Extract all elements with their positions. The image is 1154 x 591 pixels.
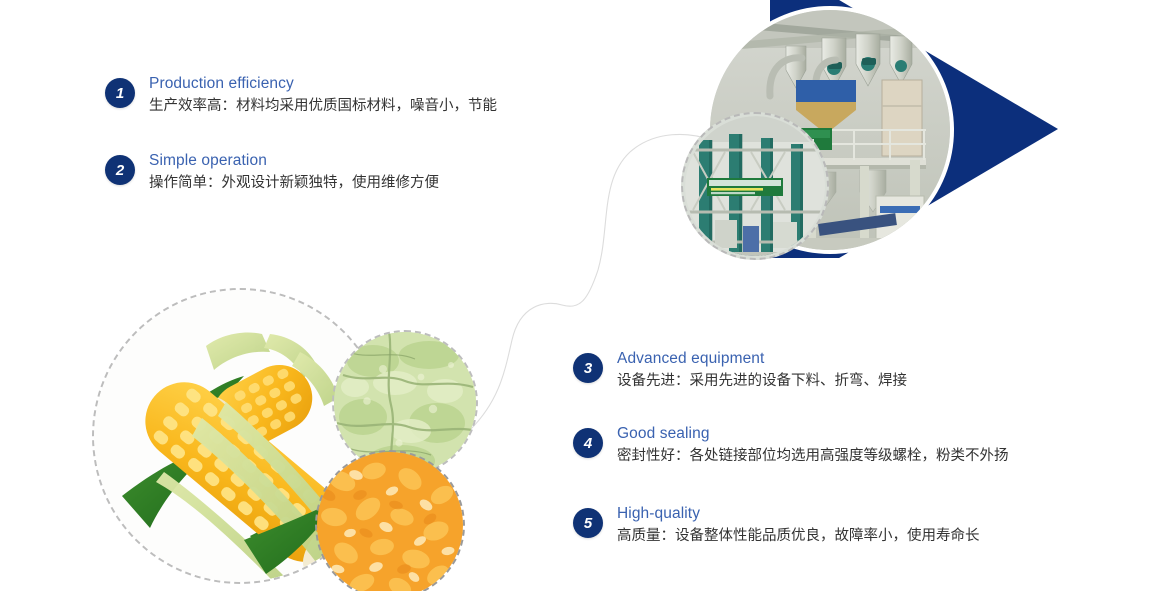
feature-badge-5: 5: [573, 508, 603, 538]
feature-badge-4: 4: [573, 428, 603, 458]
feature-badge-1: 1: [105, 78, 135, 108]
feature-item-4[interactable]: 4 Good sealing 密封性好：各处链接部位均选用高强度等级螺栓，粉类不…: [573, 428, 1009, 467]
feature-title-3: Advanced equipment: [617, 349, 907, 369]
corn-processing-line-photo: [685, 116, 825, 256]
feature-item-1[interactable]: 1 Production efficiency 生产效率高：材料均采用优质国标材…: [105, 78, 497, 117]
infographic-stage: 1 Production efficiency 生产效率高：材料均采用优质国标材…: [0, 0, 1154, 591]
feature-title-5: High-quality: [617, 504, 980, 524]
feature-item-2[interactable]: 2 Simple operation 操作简单：外观设计新颖独特，使用维修方便: [105, 155, 439, 194]
feature-title-1: Production efficiency: [149, 74, 497, 94]
feature-description-4: 密封性好：各处链接部位均选用高强度等级螺栓，粉类不外扬: [617, 445, 1009, 467]
feature-item-5[interactable]: 5 High-quality 高质量：设备整体性能品质优良，故障率小，使用寿命长: [573, 508, 980, 547]
feature-badge-3: 3: [573, 353, 603, 383]
feature-title-4: Good sealing: [617, 424, 1009, 444]
secondary-photo-circle: [681, 112, 829, 260]
feature-description-5: 高质量：设备整体性能品质优良，故障率小，使用寿命长: [617, 525, 980, 547]
feature-badge-2: 2: [105, 155, 135, 185]
corn-grits-photo: [316, 451, 464, 591]
feature-item-3[interactable]: 3 Advanced equipment 设备先进：采用先进的设备下料、折弯、焊…: [573, 353, 907, 392]
feature-description-1: 生产效率高：材料均采用优质国标材料，噪音小，节能: [149, 95, 497, 117]
corn-grits-photo-circle: [315, 450, 465, 591]
feature-title-2: Simple operation: [149, 151, 439, 171]
feature-description-2: 操作简单：外观设计新颖独特，使用维修方便: [149, 172, 439, 194]
feature-description-3: 设备先进：采用先进的设备下料、折弯、焊接: [617, 370, 907, 392]
